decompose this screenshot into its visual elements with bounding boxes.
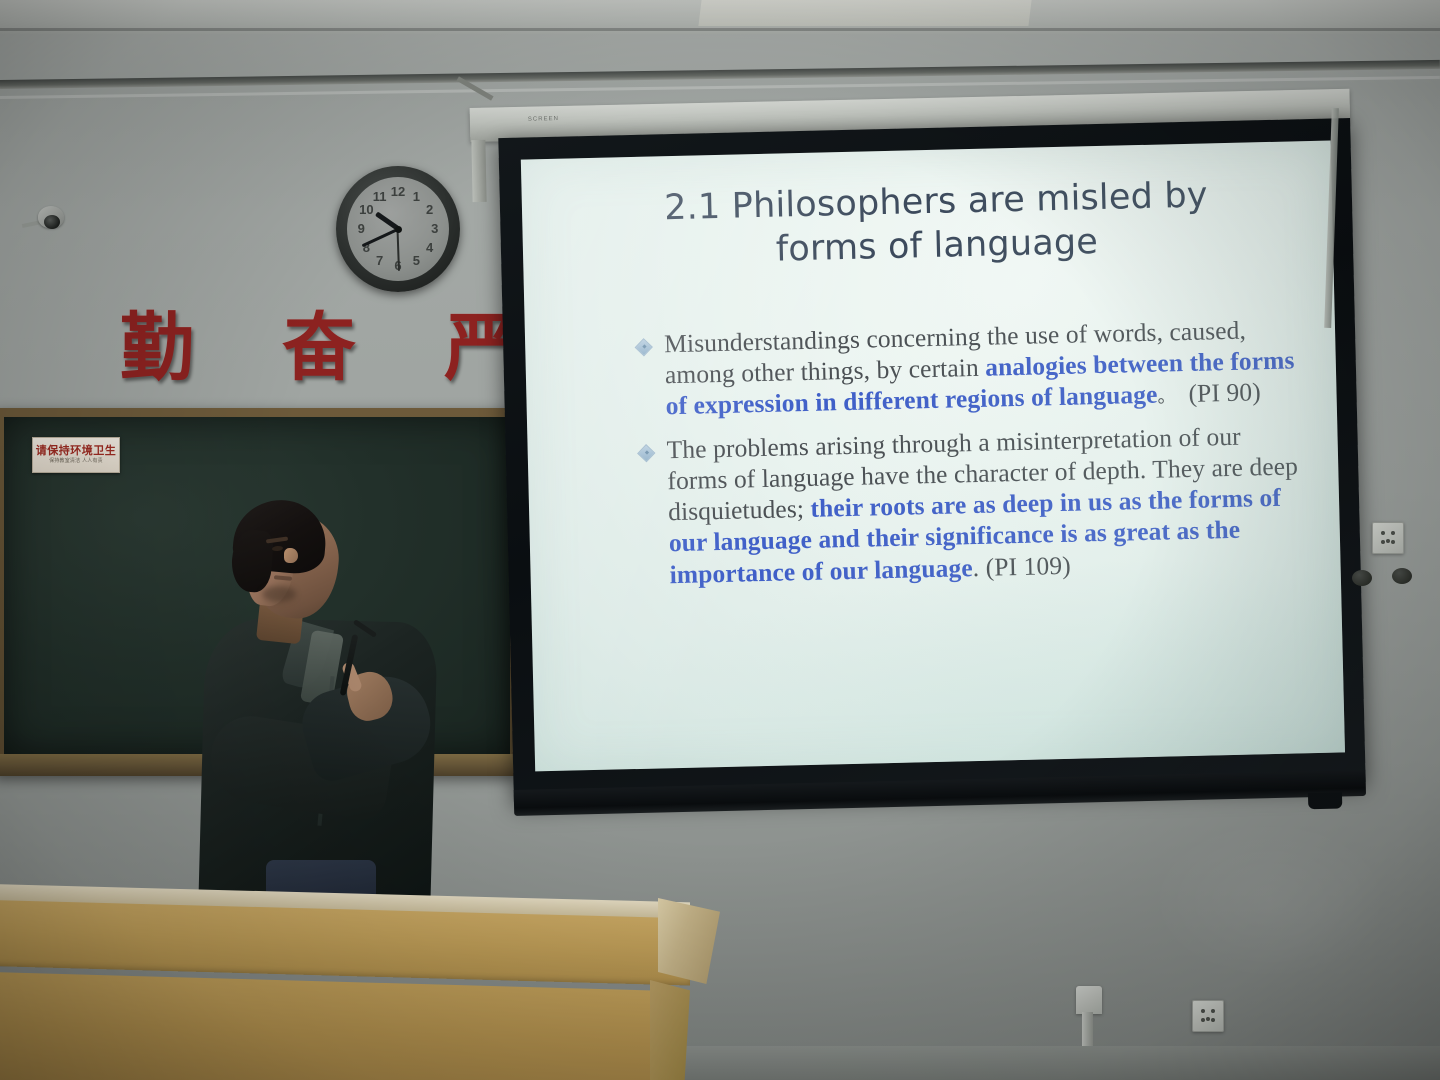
- clock-second-hand: [397, 229, 400, 271]
- slogan-char-1: 勤: [120, 311, 196, 385]
- lecturer-nose: [284, 548, 298, 563]
- slide-bullet-2: The problems arising through a misinterp…: [639, 419, 1306, 591]
- wall-hook-right: [1392, 568, 1412, 584]
- ceiling-seam: [0, 28, 1440, 31]
- diamond-bullet-icon: [637, 444, 655, 462]
- clock-numeral: 12: [389, 184, 407, 200]
- bullet-1-cn-period: 。: [1157, 387, 1176, 408]
- presentation-slide[interactable]: 2.1 Philosophers are misled by forms of …: [521, 141, 1345, 772]
- slogan-char-2: 奋: [282, 311, 358, 385]
- wall-slogan: 勤 奋 严 谨: [120, 300, 560, 396]
- wall-light-patch: [1150, 820, 1390, 980]
- podium-right-side: [650, 980, 690, 1080]
- clock-face: 12 1 2 3 4 5 6 7 8 9 10 11: [347, 177, 449, 281]
- cable-conduit-cap: [1076, 986, 1102, 1014]
- screen-bracket: [471, 140, 486, 202]
- clock-numeral: 5: [407, 253, 425, 269]
- clock-numeral: 3: [426, 221, 444, 237]
- wall-clock: 12 1 2 3 4 5 6 7 8 9 10 11: [336, 166, 460, 292]
- wall-outlet-right[interactable]: [1372, 522, 1404, 554]
- bullet-2-citation: (PI 109): [985, 550, 1071, 581]
- wall-outlet-bottom[interactable]: [1192, 1000, 1224, 1032]
- bullet-2-text: The problems arising through a misinterp…: [666, 419, 1307, 590]
- lecturer-chin-shadow: [262, 586, 296, 602]
- ceiling-panel: [698, 0, 1031, 26]
- lectern-podium: [0, 884, 726, 1080]
- security-camera-icon: [22, 206, 66, 240]
- clock-center-pin: [395, 226, 402, 233]
- lecture-hall-photo: 12 1 2 3 4 5 6 7 8 9 10 11 勤 奋 严 谨 请保持环境…: [0, 0, 1440, 1080]
- screen-bottom-foot: [1308, 792, 1342, 809]
- diamond-bullet-icon: [635, 338, 653, 356]
- bullet-1-citation: (PI 90): [1188, 378, 1261, 409]
- sign-secondary-text: 保持教室清洁 人人有责: [49, 459, 103, 465]
- slide-body: Misunderstandings concerning the use of …: [637, 313, 1307, 602]
- projection-screen[interactable]: 2.1 Philosophers are misled by forms of …: [498, 118, 1365, 802]
- wall-hook-left: [1352, 570, 1372, 586]
- housing-label: SCREEN: [528, 116, 559, 123]
- slide-bullet-1: Misunderstandings concerning the use of …: [637, 313, 1303, 422]
- podium-lower-panel: [0, 972, 680, 1080]
- podium-right-bevel: [658, 898, 720, 984]
- bullet-1-text: Misunderstandings concerning the use of …: [664, 313, 1303, 422]
- clock-numeral: 2: [421, 202, 439, 218]
- slide-title: 2.1 Philosophers are misled by forms of …: [581, 172, 1291, 277]
- bullet-2-plain-2: .: [972, 552, 986, 581]
- lecturer: [196, 486, 442, 906]
- clock-numeral: 9: [352, 221, 370, 237]
- hygiene-notice-sign: 请保持环境卫生 保持教室清洁 人人有责: [32, 437, 120, 473]
- clock-numeral: 11: [371, 189, 389, 205]
- sign-primary-text: 请保持环境卫生: [36, 445, 117, 457]
